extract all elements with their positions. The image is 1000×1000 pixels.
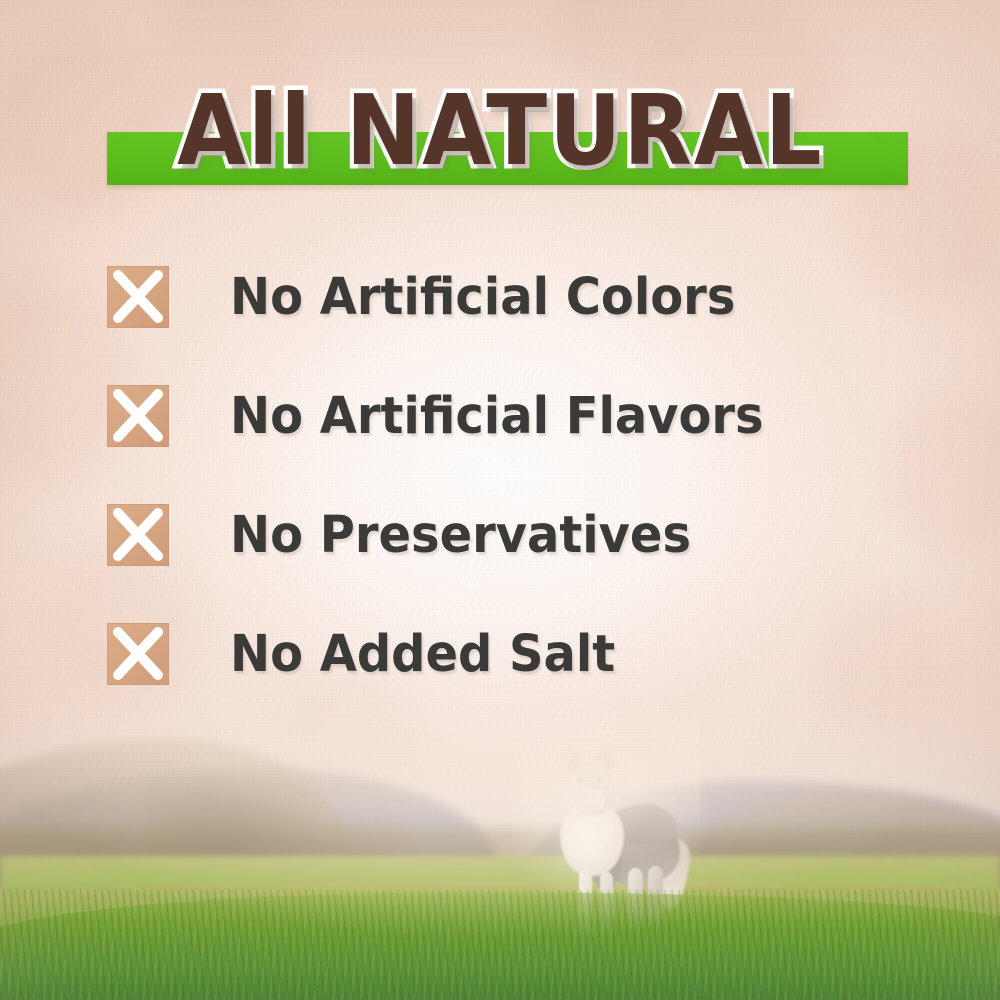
x-mark-icon xyxy=(107,385,169,447)
landscape-photo xyxy=(0,660,1000,1000)
list-item: No Artificial Flavors xyxy=(107,377,927,455)
benefits-checklist: No Artificial Colors No Artificial Flavo… xyxy=(107,258,927,693)
list-item: No Artificial Colors xyxy=(107,258,927,336)
x-mark-icon xyxy=(107,266,169,328)
list-item-label: No Added Salt xyxy=(230,629,615,680)
x-mark-icon xyxy=(107,504,169,566)
list-item-label: No Artificial Flavors xyxy=(230,391,764,442)
dog-eye-left xyxy=(578,778,583,783)
all-natural-poster: All NATURAL No Artificial Colors No Arti… xyxy=(0,0,1000,1000)
list-item: No Added Salt xyxy=(107,615,927,693)
headline-banner xyxy=(107,132,908,185)
grass-blade-texture xyxy=(0,890,1000,1000)
dog-eye-right xyxy=(596,777,601,782)
list-item-label: No Preservatives xyxy=(230,510,691,561)
x-mark-icon xyxy=(107,623,169,685)
list-item: No Preservatives xyxy=(107,496,927,574)
list-item-label: No Artificial Colors xyxy=(230,272,735,323)
